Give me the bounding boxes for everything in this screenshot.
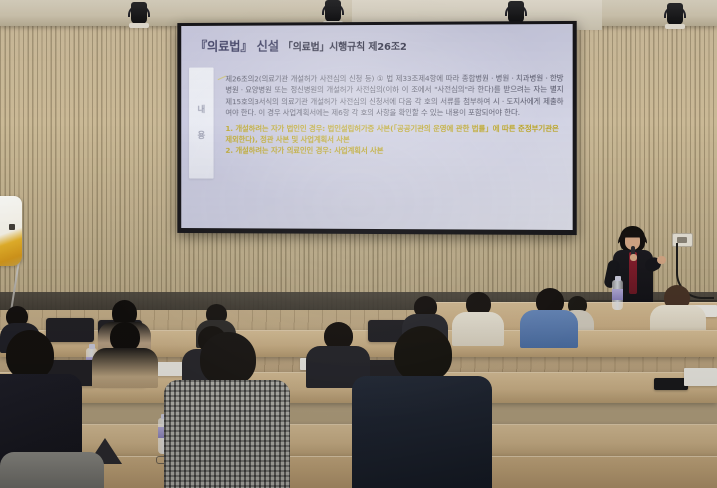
audience-member: [0, 452, 104, 488]
side-tab-char-2: 용: [197, 131, 205, 139]
audience-member: [92, 322, 158, 384]
torso: [520, 310, 578, 348]
slide-body: 제26조의2(의료기관 개설허가 사전심의 신청 등) ① 법 제33조제4항에…: [225, 72, 563, 157]
slide-side-tab: 내 용: [189, 68, 214, 179]
list-item: 1. 개설하려는 자가 법인인 경우: 법인설립허가증 사본(「공공기관의 운영…: [225, 123, 563, 146]
head: [6, 330, 54, 380]
audience-member: [164, 332, 290, 488]
audience-member: [650, 285, 706, 335]
projection-screen: 『의료법』 신설 「의료법」시행규칙 제26조2 내 용 제26조의2(의료기관…: [177, 21, 576, 235]
flag: [0, 196, 22, 266]
smartphone: [654, 378, 688, 390]
ceiling-spotlight-icon: [128, 2, 150, 32]
torso: [352, 376, 492, 488]
slide-title-main: 『의료법』 신설: [195, 38, 279, 53]
presenter-hand-left: [630, 254, 637, 261]
ceiling-spotlight-icon: [664, 3, 686, 33]
audience-member: [352, 326, 492, 488]
slide-title: 『의료법』 신설 「의료법」시행규칙 제26조2: [195, 34, 567, 55]
torso: [0, 452, 104, 488]
paper-handout: [684, 368, 717, 386]
slide-numbered-list: 1. 개설하려는 자가 법인인 경우: 법인설립허가증 사본(「공공기관의 운영…: [225, 123, 563, 158]
presenter-hand-right: [657, 256, 666, 264]
side-tab-char-1: 내: [197, 106, 205, 114]
torso: [92, 348, 158, 388]
lecture-hall-photo: 『의료법』 신설 「의료법」시행규칙 제26조2 내 용 제26조의2(의료기관…: [0, 0, 717, 488]
torso: [164, 380, 290, 488]
slide-content: 『의료법』 신설 「의료법」시행규칙 제26조2 내 용 제26조의2(의료기관…: [181, 24, 572, 230]
list-item: 2. 개설하려는 자가 의료인인 경우: 사업계획서 사본: [225, 145, 563, 157]
head: [394, 326, 452, 382]
water-bottle: [612, 280, 623, 310]
head: [200, 332, 256, 386]
audience-member: [520, 288, 578, 346]
slide-paragraph: 제26조의2(의료기관 개설허가 사전심의 신청 등) ① 법 제33조제4항에…: [225, 72, 563, 118]
slide-title-sub: 「의료법」시행규칙 제26조2: [283, 42, 407, 53]
